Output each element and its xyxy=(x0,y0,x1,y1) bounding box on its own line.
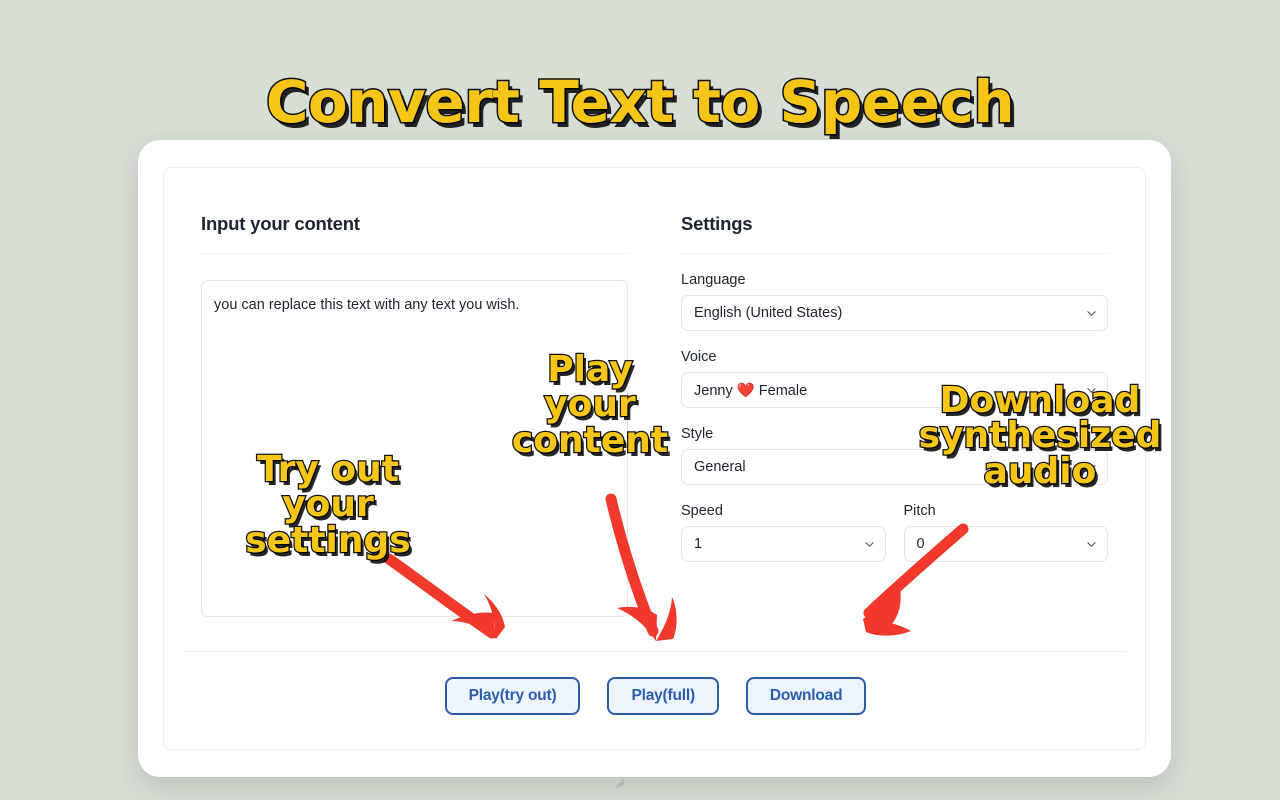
select-language[interactable]: English (United States) xyxy=(681,295,1108,331)
settings-section-heading: Settings xyxy=(681,213,1108,235)
select-style-value: General xyxy=(694,459,746,475)
label-pitch: Pitch xyxy=(904,503,1109,519)
chevron-down-icon xyxy=(1087,540,1096,549)
play-try-out-button[interactable]: Play(try out) xyxy=(445,677,581,715)
arrow-icon-download xyxy=(845,525,970,640)
play-full-button[interactable]: Play(full) xyxy=(607,677,718,715)
select-language-value: English (United States) xyxy=(694,305,842,321)
arrow-icon-play-content xyxy=(595,495,685,655)
field-language: Language English (United States) xyxy=(681,272,1108,331)
settings-section-divider xyxy=(681,253,1108,254)
annotation-download-synthesized-audio: Download synthesized audio xyxy=(890,383,1190,489)
input-section-heading: Input your content xyxy=(201,213,628,235)
textarea-resize-handle[interactable] xyxy=(612,770,624,782)
label-language: Language xyxy=(681,272,1108,288)
page-title: Convert Text to Speech xyxy=(0,68,1280,136)
arrow-icon-try-out xyxy=(385,555,520,655)
label-speed: Speed xyxy=(681,503,886,519)
label-voice: Voice xyxy=(681,349,1108,365)
annotation-play-your-content: Play your content xyxy=(490,352,690,458)
input-section-divider xyxy=(201,253,628,254)
annotation-try-out-your-settings: Try out your settings xyxy=(228,452,428,558)
chevron-down-icon xyxy=(1087,309,1096,318)
select-speed-value: 1 xyxy=(694,536,702,552)
download-button[interactable]: Download xyxy=(746,677,866,715)
action-buttons: Play(try out) Play(full) Download xyxy=(164,677,1147,715)
select-voice-value: Jenny ❤️ Female xyxy=(694,382,807,399)
